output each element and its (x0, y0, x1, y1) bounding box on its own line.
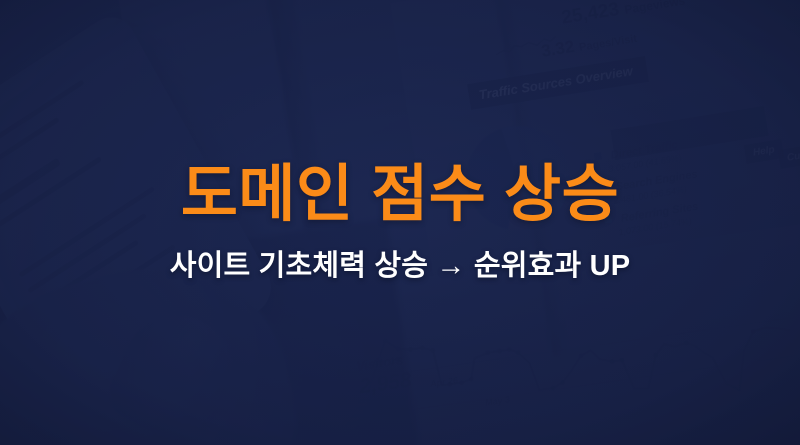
promo-banner: 25,423 Pageviews 3.32 Pages/Visit Traffi… (0, 0, 800, 445)
banner-content: 도메인 점수 상승 사이트 기초체력 상승 → 순위효과 UP (0, 0, 800, 445)
banner-headline: 도메인 점수 상승 (181, 164, 619, 226)
banner-subline: 사이트 기초체력 상승 → 순위효과 UP (170, 252, 631, 281)
